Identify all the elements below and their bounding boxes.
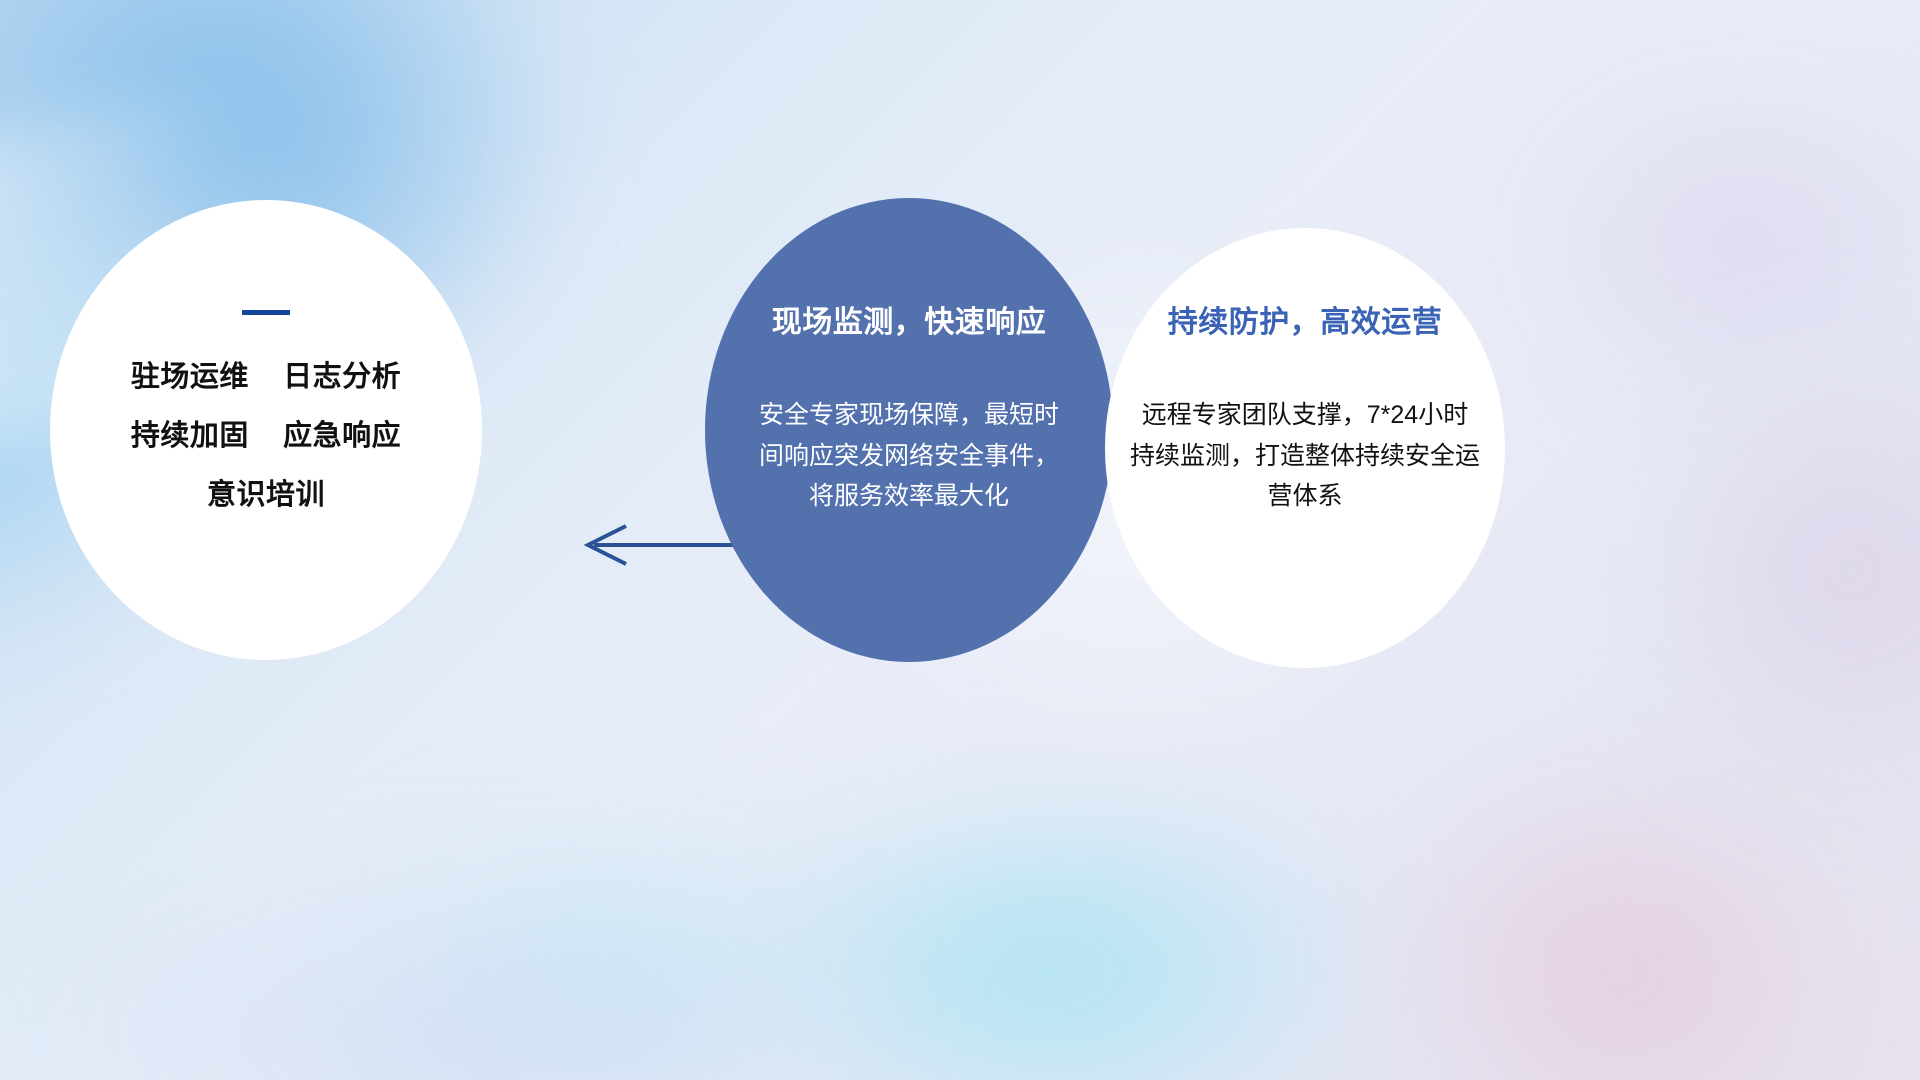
middle-circle-title: 现场监测，快速响应 xyxy=(772,306,1047,339)
divider-dash xyxy=(242,310,290,315)
left-circle-content: 驻场运维 日志分析 持续加固 应急响应 意识培训 xyxy=(50,200,482,660)
right-circle-content: 持续防护，高效运营 远程专家团队支撑，7*24小时持续监测，打造整体持续安全运营… xyxy=(1105,228,1505,668)
middle-circle-content: 现场监测，快速响应 安全专家现场保障，最短时间响应突发网络安全事件，将服务效率最… xyxy=(705,198,1113,662)
left-circle-line-3: 意识培训 xyxy=(207,481,325,510)
slide-canvas: 驻场运维 日志分析 持续加固 应急响应 意识培训 现场监测，快速响应 安全专家现… xyxy=(0,0,1920,1080)
right-circle-body: 远程专家团队支撑，7*24小时持续监测，打造整体持续安全运营体系 xyxy=(1130,395,1480,517)
left-circle-line-2: 持续加固 应急响应 xyxy=(131,422,401,451)
left-circle-line-1: 驻场运维 日志分析 xyxy=(131,363,401,392)
right-circle-title: 持续防护，高效运营 xyxy=(1168,306,1443,339)
left-circle-line-list: 驻场运维 日志分析 持续加固 应急响应 意识培训 xyxy=(131,363,401,510)
middle-circle-body: 安全专家现场保障，最短时间响应突发网络安全事件，将服务效率最大化 xyxy=(759,395,1059,517)
